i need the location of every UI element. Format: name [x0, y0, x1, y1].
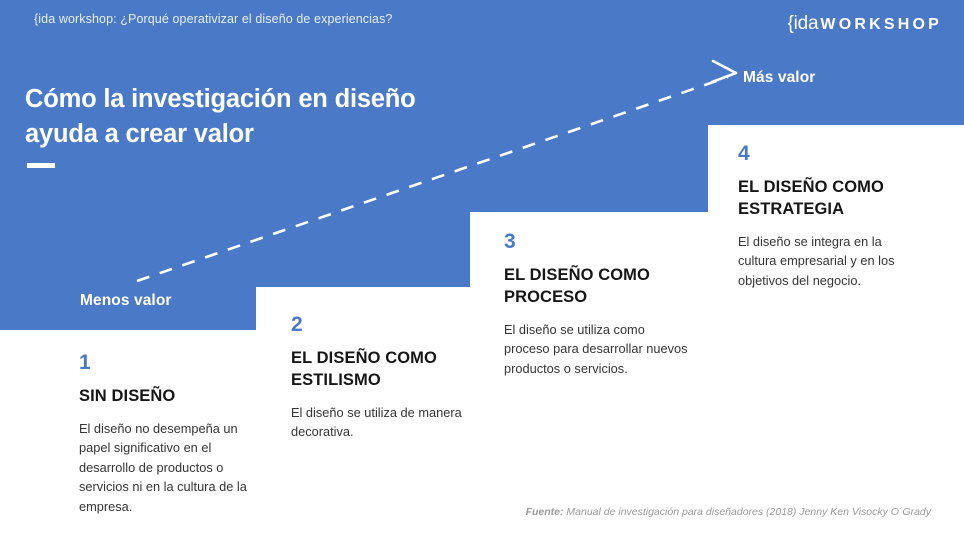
- source-footnote: Fuente: Manual de investigación para dis…: [526, 506, 931, 518]
- step-number: 3: [504, 231, 699, 252]
- axis-label-low: Menos valor: [80, 292, 172, 310]
- source-label: Fuente:: [526, 506, 564, 518]
- step-title: EL DISEÑO COMO PROCESO: [504, 265, 699, 309]
- step-item-3: 3 EL DISEÑO COMO PROCESO El diseño se ut…: [504, 231, 699, 378]
- step-item-2: 2 EL DISEÑO COMO ESTILISMO El diseño se …: [291, 314, 477, 442]
- title-underline-rule: [27, 163, 55, 168]
- axis-label-high: Más valor: [743, 69, 815, 87]
- step-description: El diseño se utiliza como proceso para d…: [504, 320, 690, 378]
- step-title: EL DISEÑO COMO ESTRATEGIA: [738, 177, 918, 221]
- step-description: El diseño se utiliza de manera decorativ…: [291, 403, 471, 442]
- step-item-4: 4 EL DISEÑO COMO ESTRATEGIA El diseño se…: [738, 143, 918, 290]
- step-title: SIN DISEÑO: [79, 386, 264, 408]
- step-title: EL DISEÑO COMO ESTILISMO: [291, 348, 477, 392]
- slide-canvas: {ida workshop: ¿Porqué operativizar el d…: [0, 0, 964, 542]
- header-subtitle: {ida workshop: ¿Porqué operativizar el d…: [34, 12, 393, 26]
- source-text: Manual de investigación para diseñadores…: [566, 506, 931, 518]
- step-number: 2: [291, 314, 477, 335]
- page-title: Cómo la investigación en diseño ayuda a …: [25, 82, 455, 151]
- step-description: El diseño no desempeña un papel signific…: [79, 419, 261, 516]
- step-description: El diseño se integra en la cultura empre…: [738, 232, 910, 290]
- brand-logo: {ida WORKSHOP: [787, 13, 942, 35]
- step-number: 4: [738, 143, 918, 164]
- step-number: 1: [79, 352, 264, 373]
- step-item-1: 1 SIN DISEÑO El diseño no desempeña un p…: [79, 352, 264, 516]
- logo-bold-text: WORKSHOP: [820, 16, 942, 34]
- stair-block-3: [470, 0, 708, 212]
- logo-light-text: {ida: [787, 13, 818, 35]
